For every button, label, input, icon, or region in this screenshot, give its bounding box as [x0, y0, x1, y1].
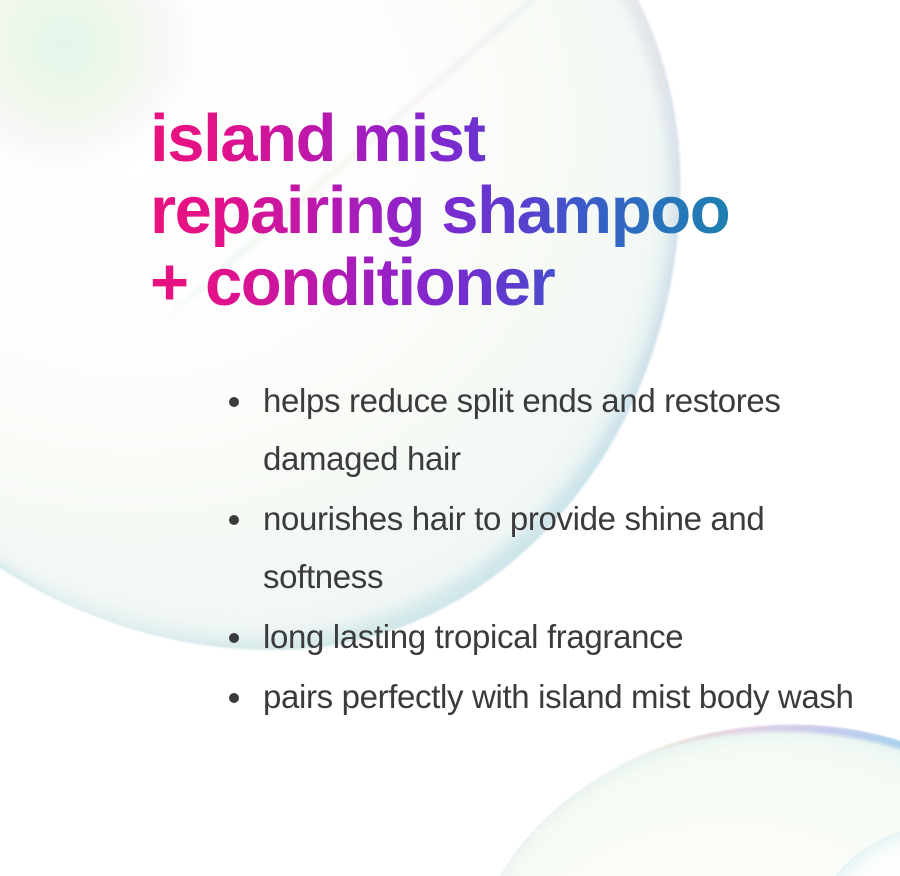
benefit-item: helps reduce split ends and restores dam… [228, 372, 868, 488]
benefit-item: pairs perfectly with island mist body wa… [228, 668, 868, 726]
benefit-item: long lasting tropical fragrance [228, 608, 868, 666]
product-headline: island mist repairing shampoo + conditio… [150, 103, 850, 319]
benefit-item: nourishes hair to provide shine and soft… [228, 490, 868, 606]
content-layer: island mist repairing shampoo + conditio… [0, 0, 900, 876]
product-detail-image: island mist repairing shampoo + conditio… [0, 0, 900, 876]
benefits-list: helps reduce split ends and restores dam… [228, 372, 868, 728]
